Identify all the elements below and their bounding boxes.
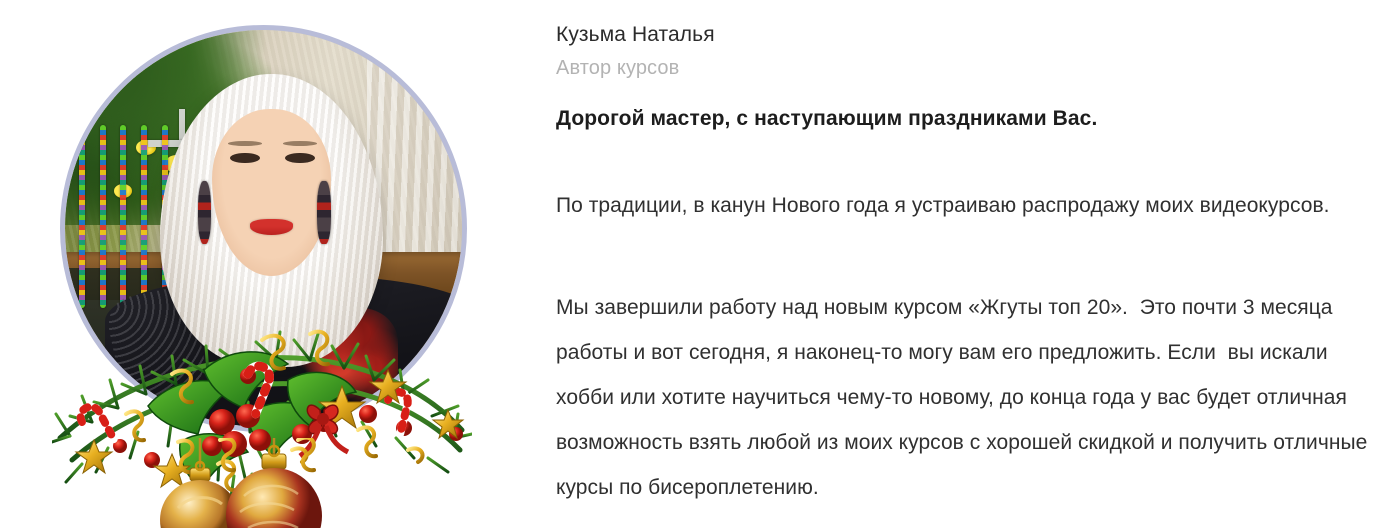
message-paragraph-2: Мы завершили работу над новым курсом «Жг… [556,285,1374,510]
testimonial-block: Кузьма Наталья Автор курсов Дорогой маст… [0,0,1390,528]
portrait-eyebrow-left [228,141,262,146]
bauble-strings [200,438,274,470]
avatar [60,25,467,432]
message-content: Кузьма Наталья Автор курсов Дорогой маст… [556,0,1376,528]
author-portrait-photo [65,30,462,427]
bauble-curl-ribbons [178,438,314,472]
avatar-column [0,0,528,528]
message-lede: Дорогой мастер, с наступающим праздникам… [556,104,1376,134]
portrait-earring-right [317,181,330,245]
portrait-earring-left [198,181,211,245]
author-role: Автор курсов [556,56,679,81]
bauble-red [226,446,322,528]
portrait-eyebrow-right [283,141,317,146]
christmas-baubles [148,438,408,528]
message-paragraph-1: По традиции, в канун Нового года я устра… [556,183,1374,228]
author-name: Кузьма Наталья [556,22,715,48]
bauble-filigree [240,486,298,528]
bauble-gold [160,462,240,528]
